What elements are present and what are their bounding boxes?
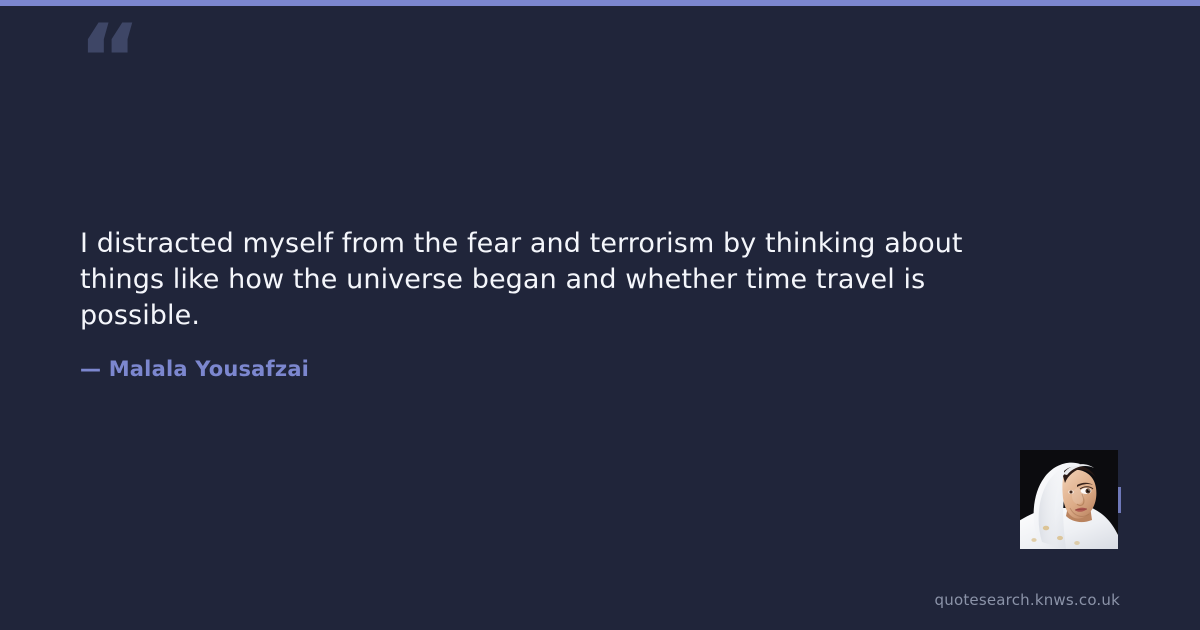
quote-text: I distracted myself from the fear and te… [80,226,980,334]
quote-block: I distracted myself from the fear and te… [80,226,980,334]
quote-attribution: — Malala Yousafzai [80,357,309,381]
author-portrait [1020,450,1118,549]
source-url: quotesearch.knws.co.uk [935,591,1120,609]
portrait-accent-tick [1118,487,1121,513]
portrait-image [1020,450,1118,549]
top-accent-bar [0,0,1200,6]
open-quote-icon: “ [78,12,139,108]
quote-card: “ I distracted myself from the fear and … [0,0,1200,630]
